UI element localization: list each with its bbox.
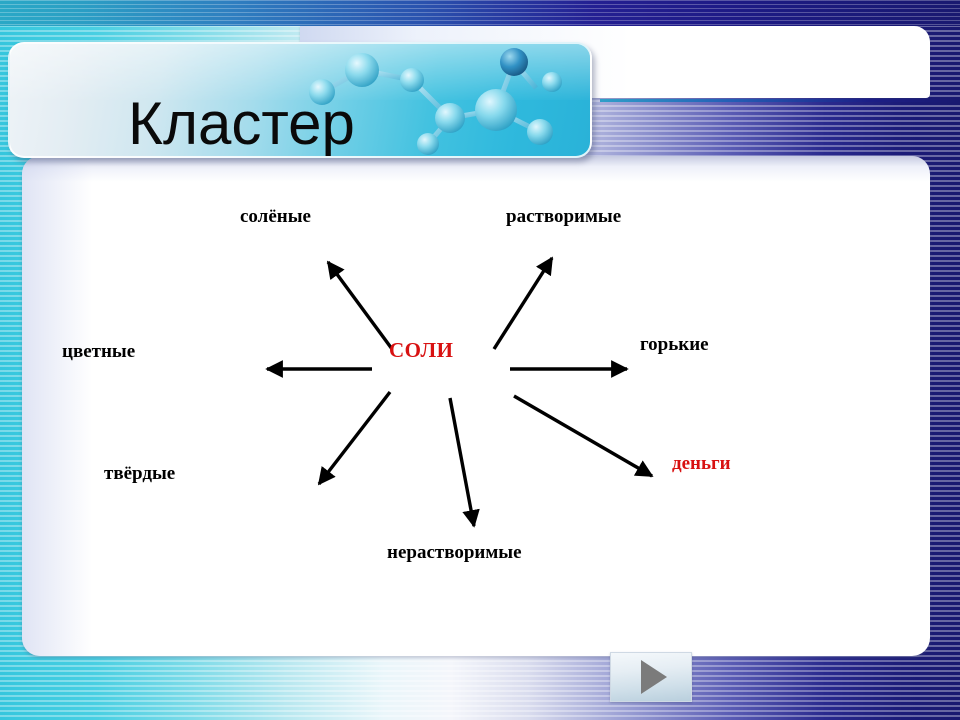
- cluster-node-tsvetnye: цветные: [62, 341, 135, 363]
- arrow-to-tvyordye: [319, 392, 390, 484]
- cluster-node-dengi: деньги: [672, 453, 731, 475]
- cluster-node-tvyordye: твёрдые: [104, 463, 175, 485]
- play-icon: [641, 660, 667, 694]
- title-banner: Кластер: [8, 42, 592, 158]
- cluster-node-nerastvorimye: нерастворимые: [387, 542, 522, 564]
- header-divider-rule: [600, 99, 960, 102]
- presentation-slide: Кластер СОЛИ солёные растворимые цветны: [0, 0, 960, 720]
- cluster-node-gorkie: горькие: [640, 334, 709, 356]
- cluster-arrows-layer: [22, 156, 930, 656]
- arrow-to-rastvorimye: [494, 258, 552, 349]
- cluster-node-rastvorimye: растворимые: [506, 206, 621, 228]
- page-title: Кластер: [128, 94, 355, 154]
- arrow-to-dengi: [514, 396, 652, 476]
- cluster-center-label: СОЛИ: [389, 338, 453, 363]
- next-slide-button[interactable]: [610, 652, 692, 702]
- arrow-to-nerastvorimye: [450, 398, 474, 526]
- cluster-diagram: СОЛИ солёные растворимые цветные горькие…: [22, 156, 930, 656]
- top-accent-band-stripes: [0, 0, 960, 26]
- cluster-node-solenye: солёные: [240, 206, 311, 228]
- arrow-to-solenye: [328, 262, 392, 349]
